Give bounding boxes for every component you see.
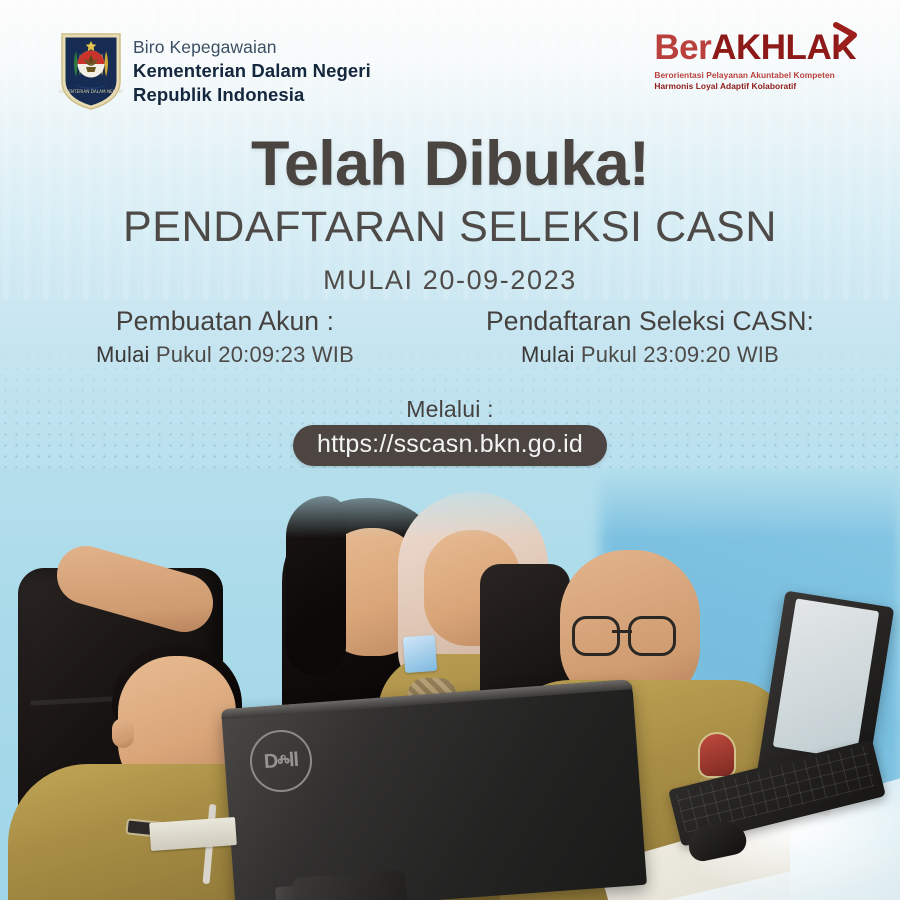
photo-staff-at-computer: Dⰾll bbox=[0, 468, 900, 900]
poster-header: KEMENTERIAN DALAM NEGERI Biro Kepegawaia… bbox=[0, 0, 900, 120]
berakhlak-wordmark: BerAKHLAK bbox=[654, 30, 856, 65]
uniform-badge-icon bbox=[700, 734, 734, 776]
berakhlak-tagline-line-1: Berorientasi Pelayanan Akuntabel Kompete… bbox=[654, 70, 856, 81]
schedule-title: Pendaftaran Seleksi CASN: bbox=[440, 306, 860, 336]
schedule-time: Mulai Pukul 23:09:20 WIB bbox=[440, 342, 860, 368]
monitor-asset-sticker bbox=[149, 817, 237, 851]
schedule-time-detail: Pukul 20:09:23 WIB bbox=[156, 342, 354, 367]
headline-main: Telah Dibuka! bbox=[0, 133, 900, 196]
person-man-ear bbox=[112, 718, 134, 748]
kemendagri-emblem-icon: KEMENTERIAN DALAM NEGERI bbox=[58, 31, 124, 111]
headline-date: MULAI 20-09-2023 bbox=[0, 265, 900, 296]
berakhlak-prefix: Ber bbox=[654, 28, 711, 67]
berakhlak-logo: BerAKHLAK Berorientasi Pelayanan Akuntab… bbox=[654, 30, 856, 92]
schedule-time-detail: Pukul 23:09:20 WIB bbox=[581, 342, 779, 367]
organization-name: Biro Kepegawaian Kementerian Dalam Neger… bbox=[133, 36, 371, 107]
schedule-title: Pembuatan Akun : bbox=[30, 306, 420, 336]
monitor-blue-sticker bbox=[403, 635, 437, 673]
person-woman-hair-front bbox=[286, 496, 346, 676]
berakhlak-arrow-icon bbox=[830, 22, 860, 52]
org-line-3: Republik Indonesia bbox=[133, 83, 371, 107]
berakhlak-tagline-line-2: Harmonis Loyal Adaptif Kolaboratif bbox=[654, 81, 856, 92]
via-label: Melalui : bbox=[0, 396, 900, 423]
berakhlak-tagline: Berorientasi Pelayanan Akuntabel Kompete… bbox=[654, 70, 856, 92]
headline-subtitle: PENDAFTARAN SELEKSI CASN bbox=[0, 205, 900, 250]
eyeglasses-bridge-icon bbox=[612, 630, 632, 633]
schedule-time-lead: Mulai bbox=[521, 342, 575, 367]
schedule-time-lead: Mulai bbox=[96, 342, 150, 367]
eyeglasses-left-lens-icon bbox=[572, 616, 620, 656]
eyeglasses-right-lens-icon bbox=[628, 616, 676, 656]
headline-block: Telah Dibuka! PENDAFTARAN SELEKSI CASN M… bbox=[0, 133, 900, 296]
poster-canvas: KEMENTERIAN DALAM NEGERI Biro Kepegawaia… bbox=[0, 0, 900, 900]
org-line-1: Biro Kepegawaian bbox=[133, 36, 371, 59]
org-line-2: Kementerian Dalam Negeri bbox=[133, 59, 371, 83]
schedule-item-account-creation: Pembuatan Akun : Mulai Pukul 20:09:23 WI… bbox=[30, 306, 420, 368]
registration-url-pill[interactable]: https://sscasn.bkn.go.id bbox=[293, 425, 607, 466]
svg-text:KEMENTERIAN DALAM NEGERI: KEMENTERIAN DALAM NEGERI bbox=[59, 89, 123, 94]
schedule-time: Mulai Pukul 20:09:23 WIB bbox=[30, 342, 420, 368]
schedule-item-casn-registration: Pendaftaran Seleksi CASN: Mulai Pukul 23… bbox=[440, 306, 860, 368]
url-pill-wrapper: https://sscasn.bkn.go.id bbox=[0, 425, 900, 466]
